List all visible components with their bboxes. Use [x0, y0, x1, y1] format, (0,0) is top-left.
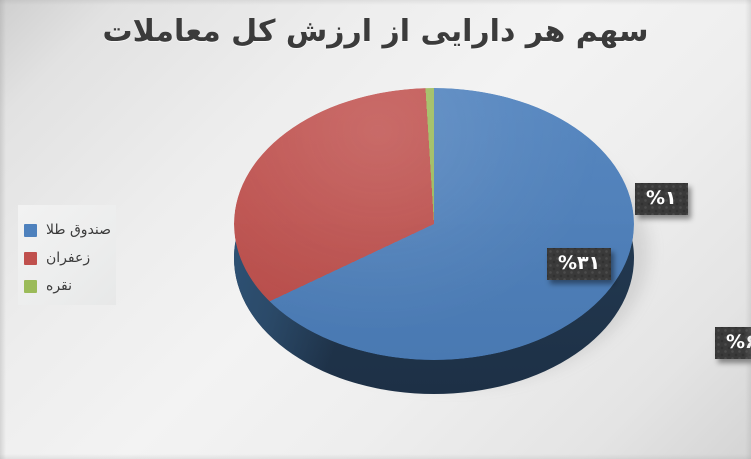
data-label-saffron: %۳۱: [547, 248, 611, 280]
chart-legend: صندوق طلا زعفران نقره: [18, 205, 116, 305]
chart-title: سهم هر دارایی از ارزش کل معاملات: [0, 14, 751, 49]
pie-top-face: [234, 88, 634, 360]
data-label-silver: %۱: [635, 183, 688, 215]
chart-canvas: سهم هر دارایی از ارزش کل معاملات صندوق ط…: [0, 0, 751, 459]
legend-item-saffron[interactable]: زعفران: [24, 244, 107, 272]
pie-chart: %۱ %۳۱ %۶۸: [228, 80, 643, 400]
legend-swatch-saffron: [24, 252, 37, 265]
legend-swatch-gold: [24, 224, 37, 237]
legend-label-silver: نقره: [46, 278, 72, 294]
legend-label-saffron: زعفران: [46, 250, 90, 266]
legend-item-gold[interactable]: صندوق طلا: [24, 216, 107, 244]
legend-swatch-silver: [24, 280, 37, 293]
pie-slices: [234, 88, 634, 360]
legend-label-gold: صندوق طلا: [46, 222, 111, 238]
legend-item-silver[interactable]: نقره: [24, 272, 107, 300]
data-label-gold: %۶۸: [715, 327, 751, 359]
